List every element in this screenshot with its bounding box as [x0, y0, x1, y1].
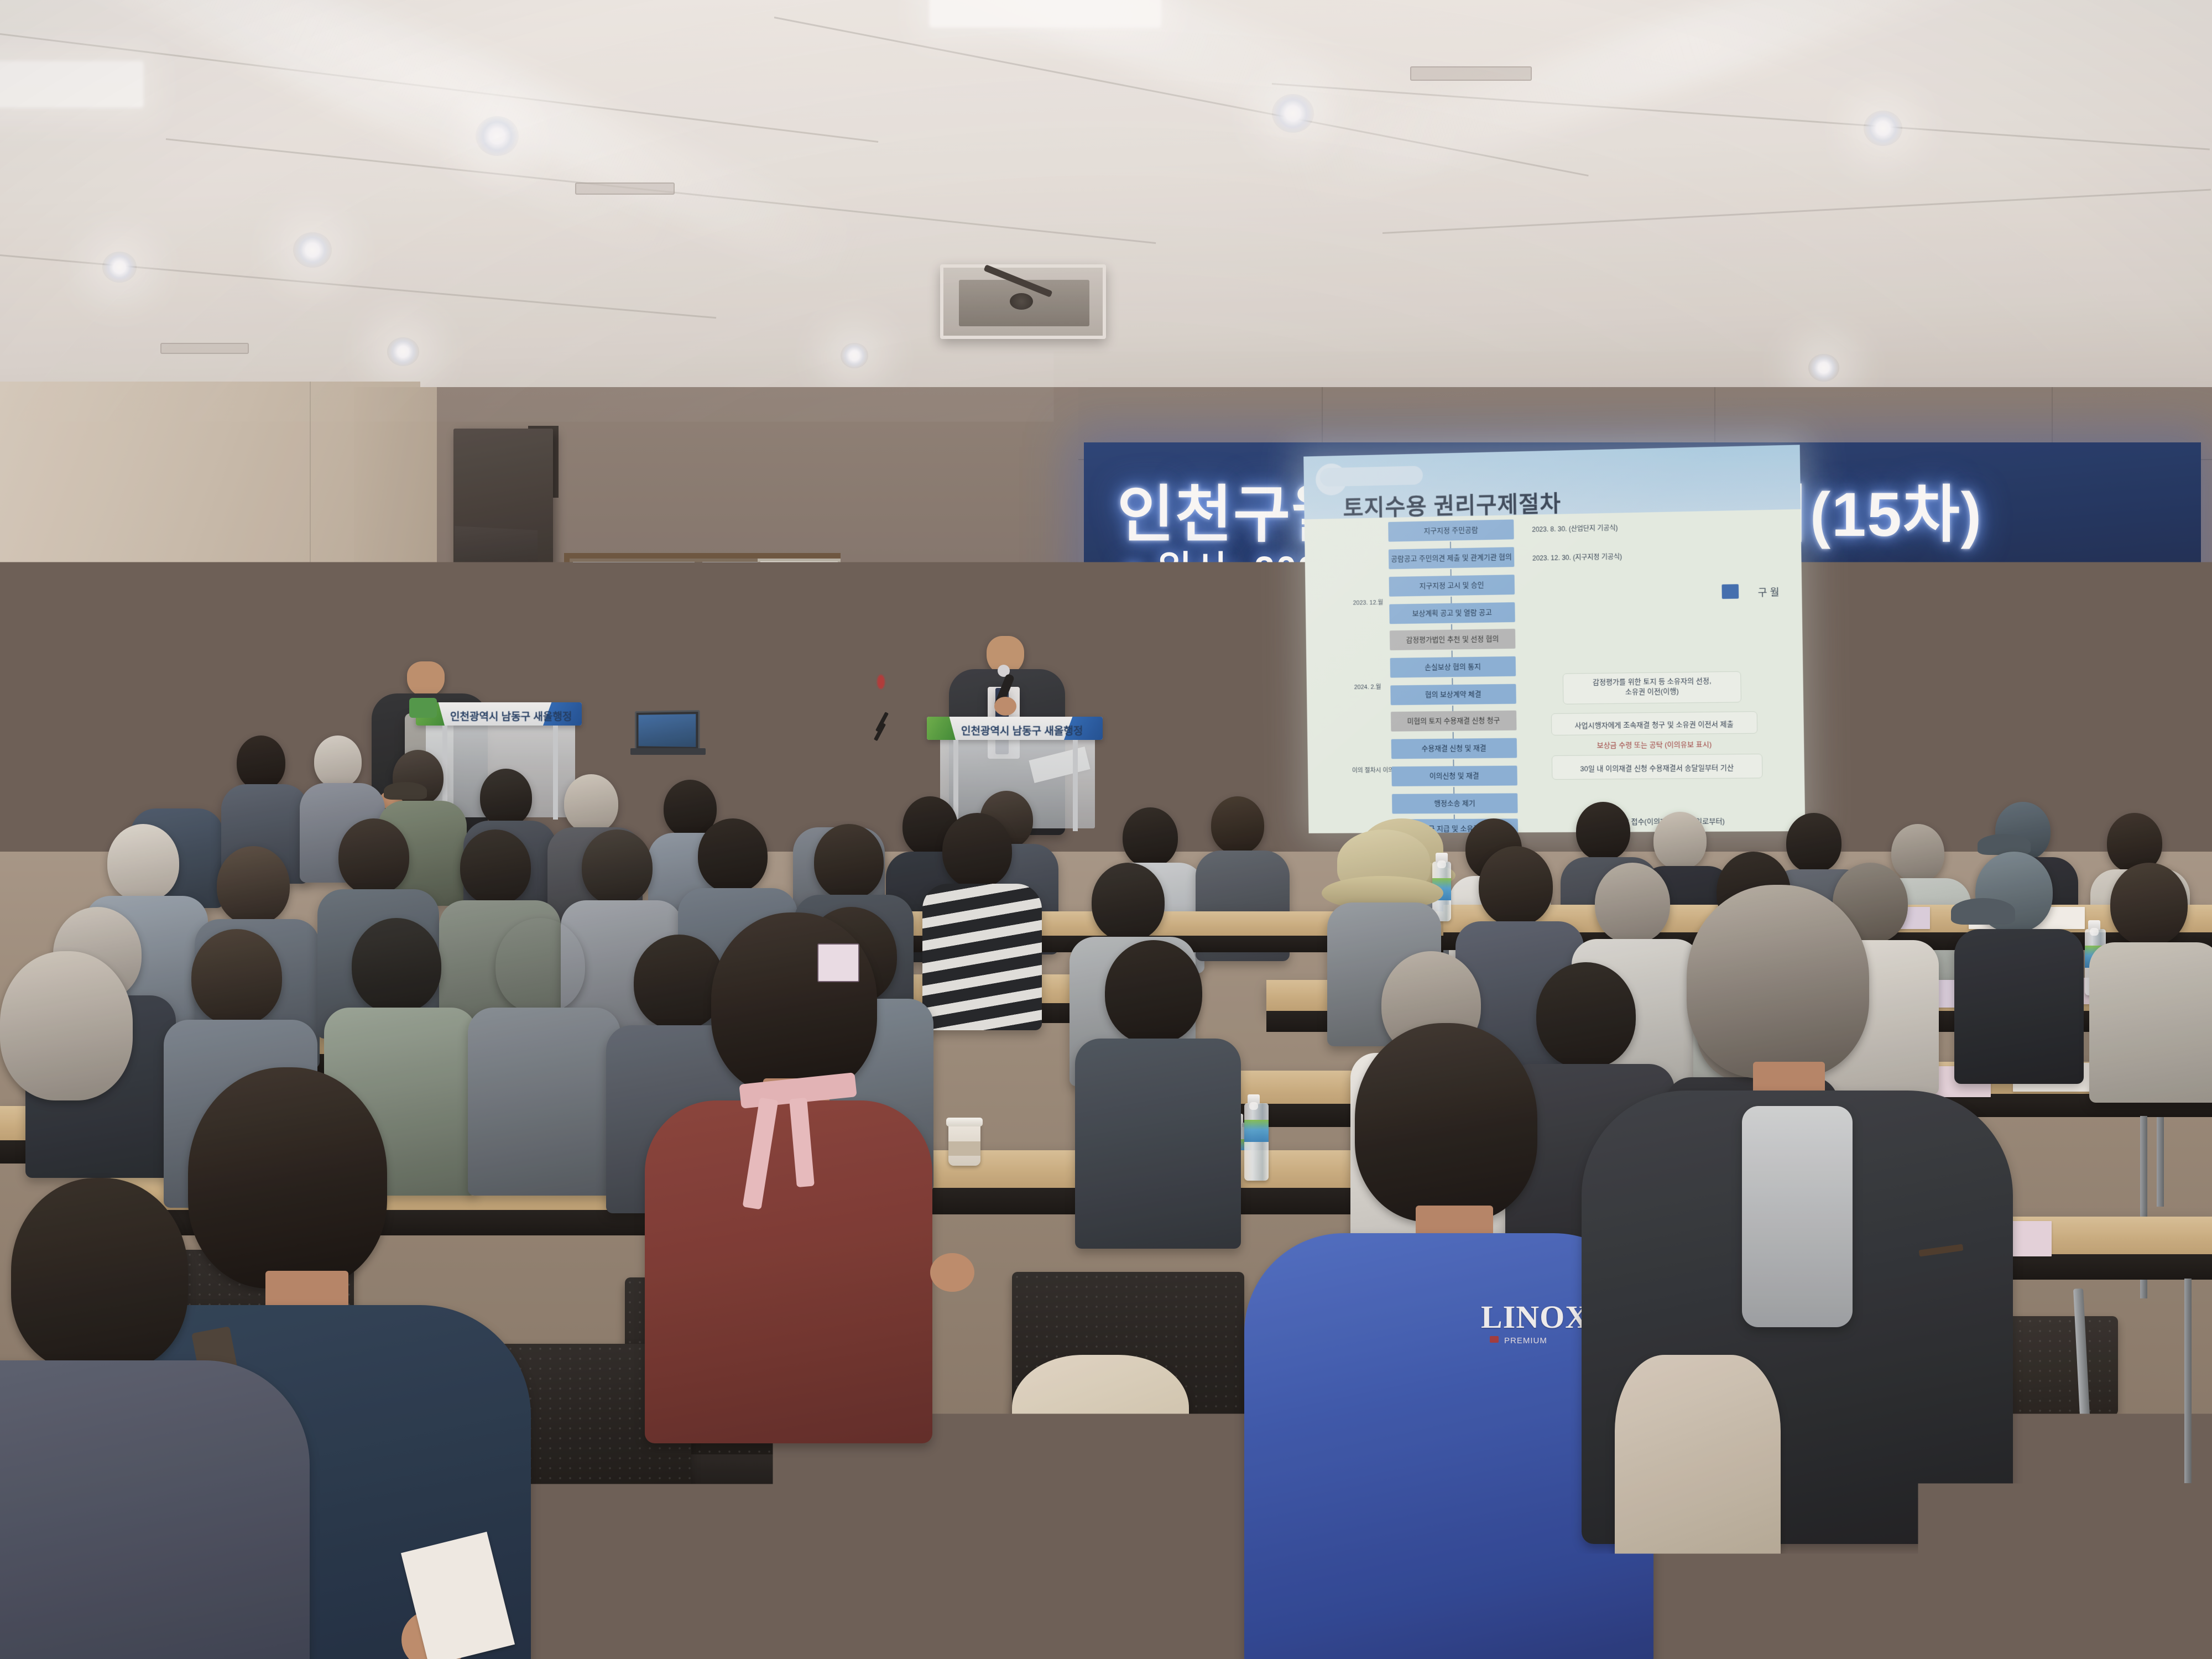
water-bottle: [1244, 1103, 1269, 1181]
slide-logo-label: 구 월: [1757, 585, 1779, 599]
ceiling-downlight: [1808, 354, 1839, 382]
meeting-room-photo: 남동구 인천구월2지구 주민설명회(15차) ● 일시: 2025.9. ●장소…: [0, 0, 2212, 1659]
flow-step: 협의 보상계약 체결: [1390, 684, 1516, 705]
flow-step: 감정평가법인 추천 및 선정 협의: [1390, 629, 1516, 650]
slide-note: 보상금 수령 또는 공탁 (이의유보 표시): [1553, 738, 1755, 750]
head: [711, 912, 877, 1095]
cap-icon: [1951, 898, 2015, 925]
laptop-base: [630, 748, 706, 755]
ceiling: [0, 0, 2212, 420]
podium-left-banner-text: 인천광역시 남동구 새올행정: [450, 708, 572, 723]
slide-date: 2023. 12. 30. (지구지정 기공식): [1532, 552, 1622, 563]
fire-alarm-icon: [285, 572, 300, 592]
ceiling-projector: [940, 264, 1106, 339]
flow-step: 이의신청 및 재결: [1391, 765, 1517, 786]
podium-center-banner: 인천광역시 남동구 새올행정: [927, 717, 1103, 740]
ceiling-light-panel: [929, 0, 1161, 28]
slide-note: 사업시행자에게 조속재결 청구 및 소유권 이전서 제출: [1553, 718, 1755, 731]
ceiling-light-panel: [0, 61, 144, 108]
cap-icon: [1978, 834, 2031, 855]
ceiling-downlight: [387, 337, 419, 366]
wall-notice: [166, 685, 191, 705]
head: [188, 1067, 387, 1288]
ceiling-downlight: [1864, 111, 1902, 146]
door-sign: [192, 670, 223, 696]
torso: [0, 1360, 310, 1659]
head: [1687, 885, 1869, 1078]
slide-body: 구 월 2023. 8. 30. (산업단지 기공식) 2023. 12. 30…: [1305, 509, 1806, 833]
inner-shirt: [1742, 1106, 1853, 1327]
slide-stage-label: 2023. 12.월: [1353, 598, 1384, 607]
podium-center-banner-text: 인천광역시 남동구 새올행정: [961, 723, 1083, 738]
coffee-cup: [948, 1123, 980, 1166]
torso: [645, 1100, 932, 1443]
flow-step: 공람공고 주민의견 제출 및 관계기관 협의: [1389, 547, 1515, 569]
slide-stage-label: 2024. 2.월: [1354, 682, 1381, 691]
projection-screen: 토지수용 권리구제절차 구 월 2023. 8. 30. (산업단지 기공식) …: [1303, 445, 1805, 833]
flag-taeguk-mark: [877, 675, 885, 689]
slide-decor-pill: [1320, 466, 1423, 487]
ceiling-vent: [575, 182, 675, 195]
ceiling-vent: [160, 343, 249, 354]
speaker-left-hand: [409, 698, 437, 718]
hand: [930, 1253, 974, 1292]
head: [1355, 1023, 1537, 1222]
slide-note: 감정평가를 위한 토지 등 소유자의 선정, 소유권 이전(이행): [1567, 676, 1738, 697]
torso: [0, 1095, 177, 1349]
head: [0, 951, 133, 1100]
ceiling-downlight: [293, 232, 332, 268]
linox-logo-text: LINOX: [1481, 1298, 1589, 1335]
ceiling-downlight: [476, 116, 519, 156]
ceiling-downlight: [102, 252, 137, 283]
linox-logo-sub: PREMIUM: [1504, 1336, 1547, 1345]
flow-step: 지구지정 고시 및 승인: [1389, 575, 1515, 597]
stacked-chairs-blue: [1875, 729, 2002, 762]
flow-step: 보상계획 공고 및 열람 공고: [1389, 602, 1515, 624]
flow-step: 행정소송 제기: [1392, 793, 1518, 813]
ceiling-downlight: [1272, 94, 1314, 133]
laptop[interactable]: [635, 710, 700, 751]
pa-speaker: [453, 429, 553, 589]
ceiling-vent: [1410, 66, 1532, 81]
slide-logo-icon: [1721, 584, 1739, 599]
ceiling-downlight: [841, 343, 868, 368]
document-on-chair: [740, 1599, 1029, 1659]
flow-step: 수용재결 신청 및 재결: [1391, 738, 1517, 759]
hair-clip: [817, 943, 859, 982]
cap-icon: [384, 782, 427, 800]
striped-shirt: [922, 884, 1042, 1030]
podium-left-banner: 인천광역시 남동구 새올행정: [416, 702, 582, 726]
slide-note: 30일 내 이의재결 신청 수용재결서 송달일부터 기산: [1554, 761, 1760, 774]
slide-date: 2023. 8. 30. (산업단지 기공식): [1532, 523, 1618, 534]
flow-step: 지구지정 주민공람: [1388, 519, 1514, 541]
plastic-bag: [1012, 1355, 1189, 1488]
flow-step: 손실보상 협의 통지: [1390, 656, 1516, 678]
flow-step: 미협의 토지 수용재결 신청 청구: [1391, 711, 1517, 732]
plastic-bag: [1615, 1355, 1781, 1609]
projector-lens-icon: [1010, 293, 1033, 310]
